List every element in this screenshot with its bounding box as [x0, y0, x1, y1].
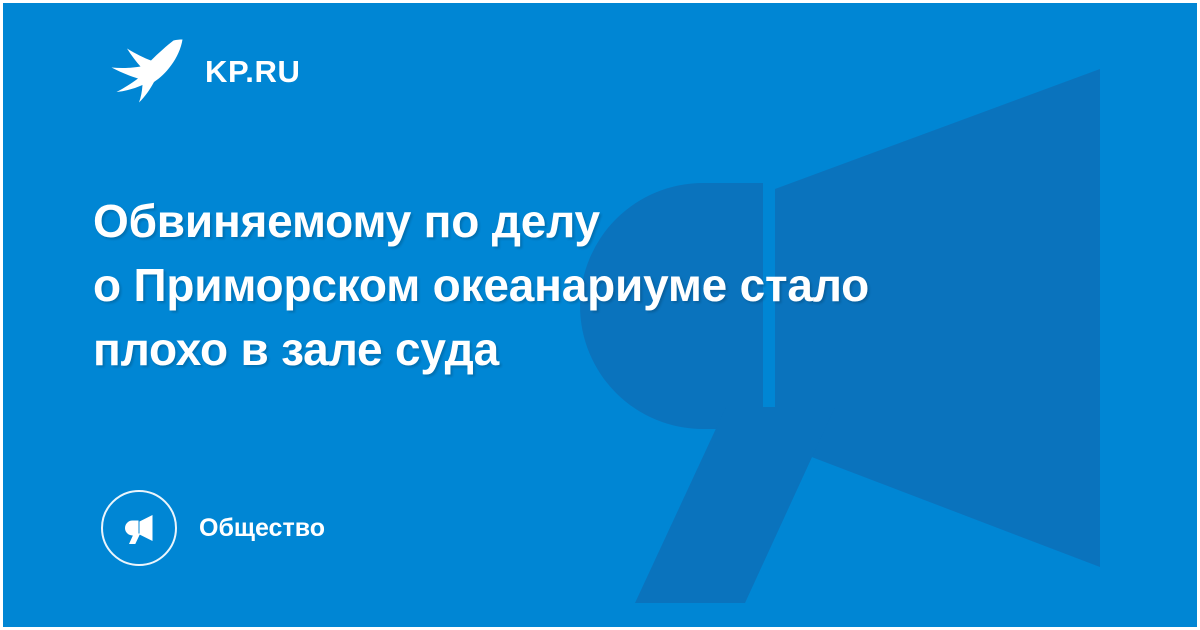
card-canvas: KP.RU Обвиняемому по делу о Приморском о… [3, 3, 1197, 627]
brand-logo-row[interactable]: KP.RU [111, 39, 300, 103]
swallow-bird-icon [111, 39, 183, 103]
brand-wordmark: KP.RU [205, 56, 300, 87]
social-share-card: KP.RU Обвиняемому по делу о Приморском о… [0, 0, 1200, 630]
megaphone-icon [101, 490, 177, 566]
rubric-label: Общество [199, 516, 325, 541]
page-title: Обвиняемому по делу о Приморском океанар… [93, 189, 1113, 381]
rubric-badge[interactable]: Общество [101, 490, 325, 566]
